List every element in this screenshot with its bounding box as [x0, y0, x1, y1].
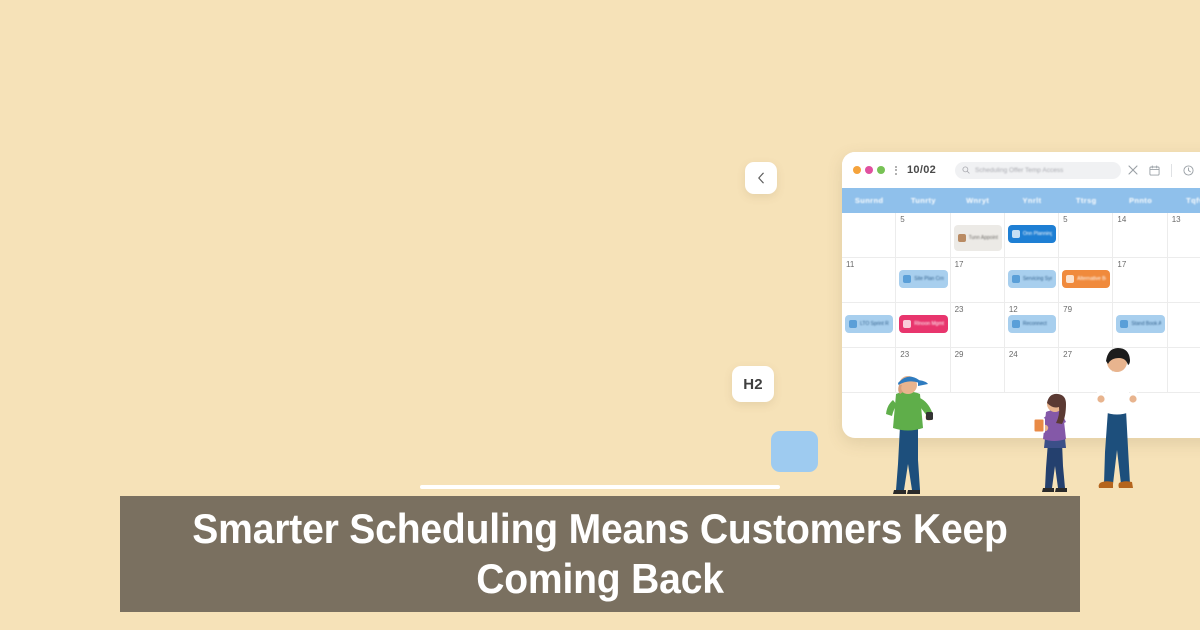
weekday-label-0: Sunrnd — [842, 188, 896, 213]
calendar-event-chip[interactable]: Tunn Appoint Scheduley — [954, 225, 1002, 251]
day-number: 23 — [955, 306, 1000, 314]
calendar-day-cell[interactable]: 29 — [951, 348, 1005, 393]
calendar-day-cell[interactable]: 24 — [1005, 348, 1059, 393]
calendar-day-cell[interactable]: 17 — [1113, 258, 1167, 303]
calendar-event-chip[interactable]: Site Plan Crnted — [899, 270, 947, 288]
calendar-window-chrome: 10/02 Scheduling Offer Temp Access — [842, 152, 1200, 188]
day-number: 79 — [1063, 306, 1108, 314]
clock-icon — [1012, 230, 1020, 238]
user-icon — [903, 320, 911, 328]
weekday-label-6: Tqfv — [1168, 188, 1200, 213]
calendar-day-cell[interactable]: 5 — [1059, 213, 1113, 258]
calendar-event-chip[interactable]: Servicing Sync Room — [1008, 270, 1056, 288]
title-banner: Smarter Scheduling Means Customers Keep … — [120, 496, 1080, 612]
calendar-date-label: 10/02 — [907, 164, 936, 176]
weekday-label-1: Tunrty — [896, 188, 950, 213]
calendar-day-cell[interactable]: Onn Planning — [1005, 213, 1059, 258]
weekday-label-4: Ttrsg — [1059, 188, 1113, 213]
calendar-day-cell[interactable]: Stand Book Appmt — [1113, 303, 1167, 348]
person-standing — [1088, 344, 1146, 496]
window-maximize-dot[interactable] — [877, 166, 885, 174]
search-placeholder: Scheduling Offer Temp Access — [975, 167, 1063, 174]
day-number: 17 — [1117, 261, 1162, 269]
calendar-day-cell[interactable]: 11 — [842, 258, 896, 303]
doc-icon — [903, 275, 911, 283]
calendar-day-cell[interactable]: 12Reconnect — [1005, 303, 1059, 348]
calendar-day-cell[interactable]: 17 — [951, 258, 1005, 303]
check-icon — [849, 320, 857, 328]
event-title: Site Plan Crnted — [914, 276, 943, 282]
weekday-label-2: Wnryt — [951, 188, 1005, 213]
day-number: 5 — [1063, 216, 1108, 224]
bell-icon — [1066, 275, 1074, 283]
person-with-clipboard — [1028, 390, 1080, 495]
chevron-left-icon — [757, 172, 765, 184]
event-title: Servicing Sync Room — [1023, 276, 1052, 282]
event-title: Reconnect — [1023, 321, 1047, 327]
calendar-day-cell[interactable]: Rlnoon Mgmt Calendar Sync — [896, 303, 950, 348]
calendar-icon[interactable] — [1149, 165, 1160, 176]
day-number: 23 — [900, 351, 945, 359]
hero-graphic: H2 10/02 Scheduling Offer Te — [0, 0, 1200, 630]
day-number: 5 — [900, 216, 945, 224]
calendar-event-chip[interactable]: Reconnect — [1008, 315, 1056, 333]
prev-nav-button[interactable] — [745, 162, 777, 194]
calendar-event-chip[interactable]: Stand Book Appmt — [1116, 315, 1164, 333]
event-title: Stand Book Appmt — [1131, 321, 1160, 327]
blue-swatch-card[interactable] — [771, 431, 818, 472]
close-icon[interactable] — [1128, 165, 1138, 175]
calendar-day-cell[interactable]: Tunn Appoint Scheduley — [951, 213, 1005, 258]
calendar-day-cell[interactable]: Site Plan Crnted — [896, 258, 950, 303]
weekday-label-3: Ynrlt — [1005, 188, 1059, 213]
calendar-day-cell[interactable] — [1168, 303, 1200, 348]
calendar-month-grid[interactable]: 5Tunn Appoint ScheduleyOnn Planning51413… — [842, 213, 1200, 393]
page-title: Smarter Scheduling Means Customers Keep … — [163, 504, 1037, 603]
window-minimize-dot[interactable] — [865, 166, 873, 174]
event-title: Onn Planning — [1023, 231, 1052, 237]
calendar-event-chip[interactable]: Rlnoon Mgmt Calendar Sync — [899, 315, 947, 333]
check-icon — [1012, 320, 1020, 328]
day-number: 12 — [1009, 306, 1054, 314]
doc-icon — [1120, 320, 1128, 328]
day-number: 24 — [1009, 351, 1054, 359]
day-number: 17 — [955, 261, 1000, 269]
clock-icon[interactable] — [1183, 165, 1194, 176]
calendar-day-cell[interactable]: LTO Sprint Review — [842, 303, 896, 348]
gear-icon — [1012, 275, 1020, 283]
day-number: 29 — [955, 351, 1000, 359]
title-divider-rule — [420, 485, 780, 489]
window-close-dot[interactable] — [853, 166, 861, 174]
calendar-day-cell[interactable] — [1168, 348, 1200, 393]
calendar-day-cell[interactable]: 13 — [1168, 213, 1200, 258]
calendar-day-cell[interactable] — [1168, 258, 1200, 303]
search-input[interactable]: Scheduling Offer Temp Access — [955, 162, 1121, 179]
event-title: Tunn Appoint Scheduley — [969, 235, 998, 241]
calendar-day-cell[interactable]: Servicing Sync Room — [1005, 258, 1059, 303]
h2-label: H2 — [743, 376, 763, 393]
person-with-cap — [878, 368, 938, 496]
more-options-icon[interactable] — [895, 166, 897, 175]
window-controls[interactable] — [853, 166, 885, 174]
weekday-label-5: Pnnto — [1113, 188, 1167, 213]
calendar-toolbar — [1128, 164, 1200, 177]
day-number: 11 — [846, 261, 891, 269]
day-number: 14 — [1117, 216, 1162, 224]
calendar-day-cell[interactable]: 23 — [951, 303, 1005, 348]
calendar-day-cell[interactable]: 14 — [1113, 213, 1167, 258]
toolbar-divider — [1171, 164, 1172, 177]
calendar-weekday-header: SunrndTunrtyWnrytYnrltTtrsgPnntoTqfv — [842, 188, 1200, 213]
calendar-event-chip[interactable]: Alternative Booking — [1062, 270, 1110, 288]
calendar-day-cell[interactable]: Alternative Booking — [1059, 258, 1113, 303]
event-title: Rlnoon Mgmt Calendar Sync — [914, 321, 943, 327]
calendar-event-chip[interactable]: LTO Sprint Review — [845, 315, 893, 333]
folder-icon — [958, 234, 966, 242]
calendar-day-cell[interactable]: 79 — [1059, 303, 1113, 348]
search-icon — [962, 161, 970, 179]
calendar-day-cell[interactable]: 5 — [896, 213, 950, 258]
calendar-event-chip[interactable]: Onn Planning — [1008, 225, 1056, 243]
event-title: Alternative Booking — [1077, 276, 1106, 282]
day-number: 13 — [1172, 216, 1200, 224]
calendar-day-cell[interactable] — [842, 213, 896, 258]
h2-tag-card[interactable]: H2 — [732, 366, 774, 402]
event-title: LTO Sprint Review — [860, 321, 889, 327]
